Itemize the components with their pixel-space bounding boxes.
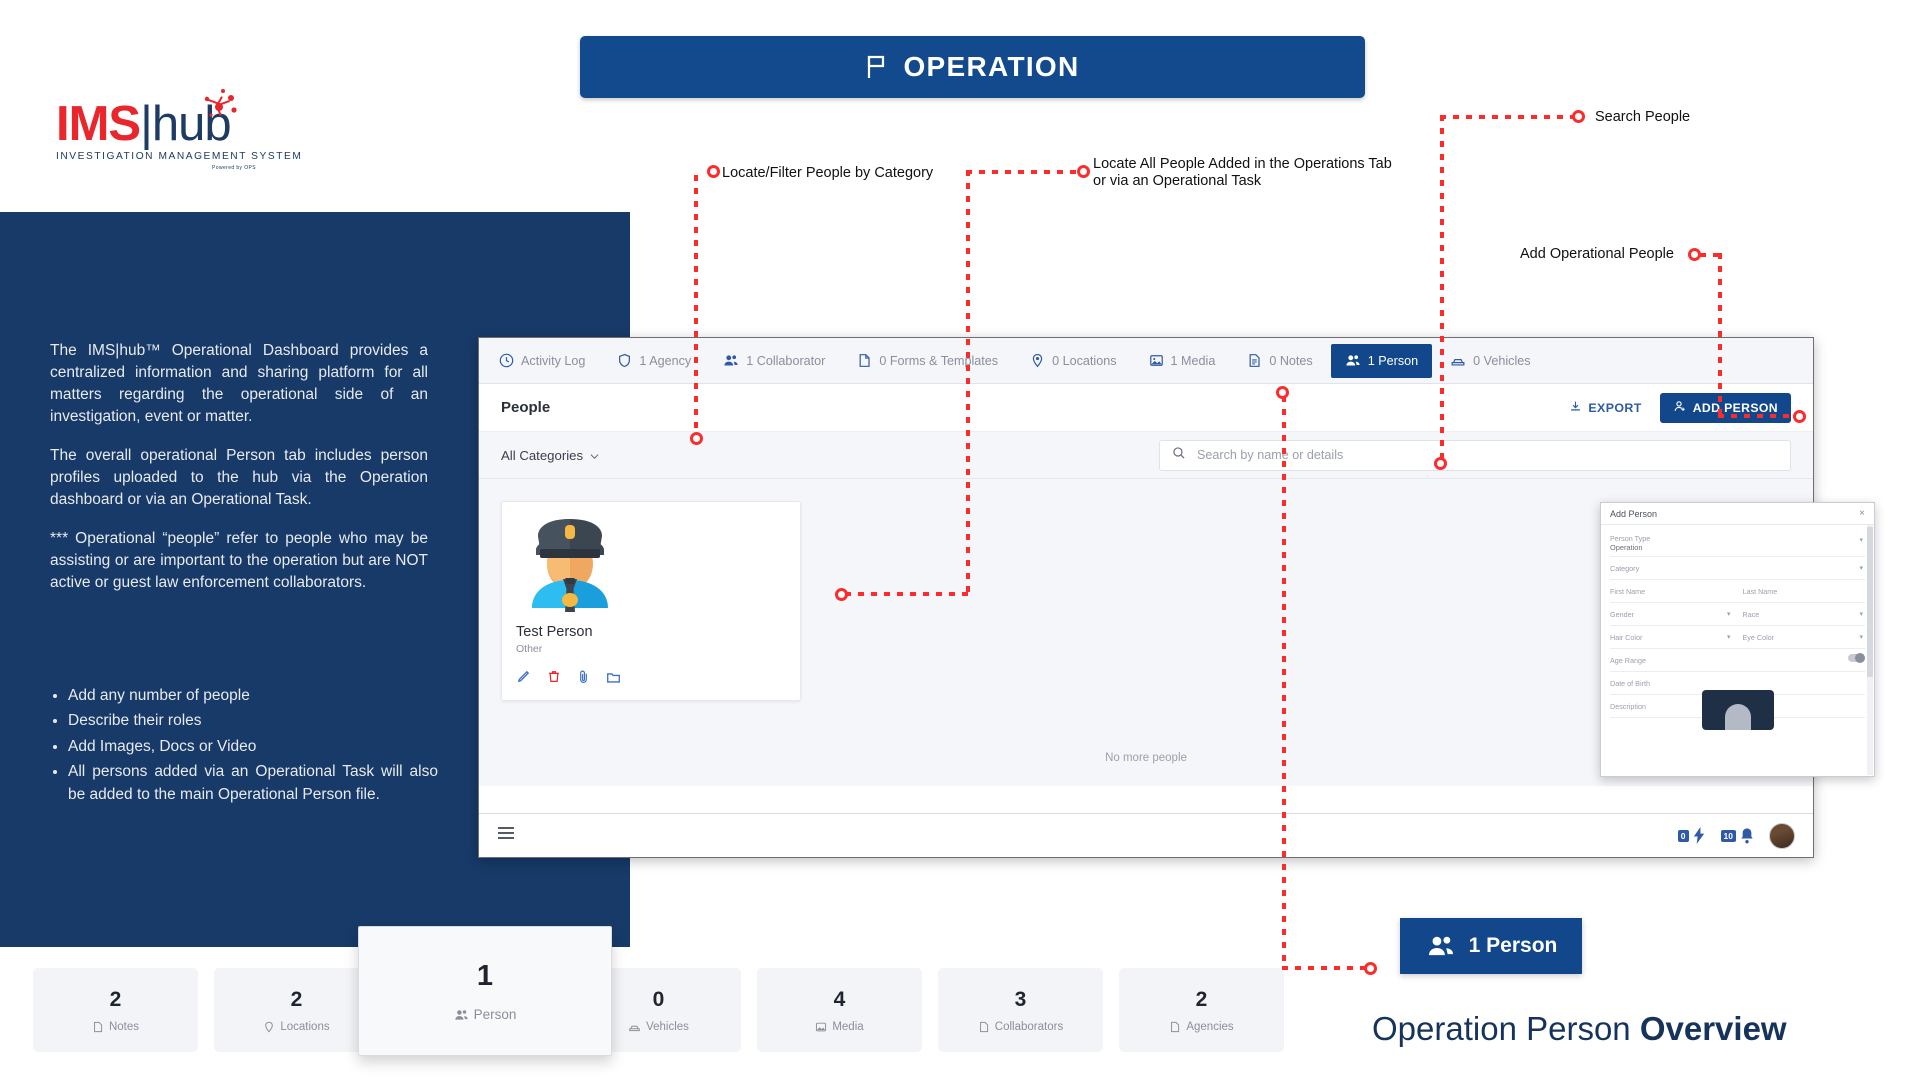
tab-label: 0 Locations [1052, 354, 1116, 368]
page-title: People [501, 399, 550, 416]
stat-label-text: Vehicles [646, 1021, 689, 1033]
spark-icon [196, 88, 240, 126]
tab-locations[interactable]: 0 Locations [1016, 344, 1130, 378]
activity-badge: 0 [1678, 830, 1689, 842]
callout-dot-search-target [1434, 457, 1447, 470]
hair-color-label: Hair Color [1610, 633, 1642, 642]
tab-label: Activity Log [521, 354, 585, 368]
add-person-button[interactable]: ADD PERSON [1660, 393, 1791, 423]
person-type-field[interactable]: Person Type Operation ▾ [1610, 529, 1865, 556]
notifications-indicator[interactable]: 10 [1721, 827, 1755, 844]
callout-dot-allpeople-target [835, 588, 848, 601]
note-icon [978, 1021, 990, 1033]
shield-icon [617, 353, 632, 368]
stat-label: Agencies [1169, 1021, 1233, 1033]
poster-canvas: IMS|hub INVESTIGATION MANAGEMENT SYSTEM … [0, 0, 1920, 1080]
person-card[interactable]: Test Person Other [501, 501, 801, 701]
field-row-age-range: Age Range [1610, 649, 1865, 672]
overview-caption-light: Operation Person [1372, 1010, 1640, 1047]
people-icon [1345, 353, 1361, 368]
callout-dot-category-target [690, 432, 703, 445]
stat-card-notes[interactable]: 2 Notes [33, 968, 198, 1052]
bolt-icon [1692, 827, 1707, 844]
field-row-name: First Name Last Name [1610, 580, 1865, 603]
tab-notes[interactable]: 0 Notes [1233, 344, 1326, 378]
tab-forms-templates[interactable]: 0 Forms & Templates [843, 344, 1012, 378]
gender-field[interactable]: Gender ▾ [1610, 603, 1733, 625]
edit-icon[interactable] [516, 669, 531, 684]
list-item: All persons added via an Operational Tas… [68, 761, 438, 806]
callout-line-category-v [694, 175, 698, 430]
pin-icon [1030, 353, 1045, 368]
overview-caption: Operation Person Overview [1372, 1010, 1787, 1048]
avatar[interactable] [1769, 823, 1795, 849]
callout-line-allpeople-v [966, 170, 970, 594]
stat-value: 4 [834, 988, 846, 1012]
flag-icon [865, 54, 889, 80]
car-icon [1450, 353, 1466, 368]
subheader-actions: EXPORT ADD PERSON [1569, 393, 1791, 423]
imshub-logo: IMS|hub INVESTIGATION MANAGEMENT SYSTEM … [56, 100, 256, 178]
logo-powered-by: Powered by OPS [56, 165, 256, 171]
stat-label: Media [815, 1021, 863, 1033]
pin-icon [263, 1021, 275, 1033]
chevron-down-icon: ▾ [1727, 633, 1731, 641]
search-box[interactable] [1159, 440, 1791, 471]
first-name-label: First Name [1610, 587, 1645, 596]
notification-badge: 10 [1721, 830, 1736, 842]
stat-label-text: Locations [280, 1021, 329, 1033]
tab-vehicles[interactable]: 0 Vehicles [1436, 344, 1544, 378]
people-icon [1425, 933, 1457, 959]
chevron-down-icon [590, 448, 599, 463]
person-count-chip: 1 Person [1400, 918, 1582, 974]
logo-ims-text: IMS [56, 97, 140, 151]
age-range-toggle[interactable] [1848, 654, 1865, 662]
person-chip-label: 1 Person [1469, 934, 1558, 958]
hamburger-icon[interactable] [497, 826, 515, 845]
race-label: Race [1743, 610, 1760, 619]
stat-label: Vehicles [628, 1021, 689, 1033]
stat-value: 2 [1196, 988, 1208, 1012]
app-footer: 0 10 [479, 813, 1813, 857]
stat-label-text: Agencies [1186, 1021, 1233, 1033]
stat-label: Collaborators [978, 1021, 1063, 1033]
stat-value: 1 [477, 960, 493, 993]
people-icon [723, 353, 739, 368]
tab-label: 1 Agency [639, 354, 691, 368]
hair-color-field[interactable]: Hair Color ▾ [1610, 626, 1733, 648]
age-range-field[interactable]: Age Range [1610, 649, 1865, 671]
eye-color-label: Eye Color [1743, 633, 1775, 642]
overview-caption-bold: Overview [1640, 1010, 1787, 1047]
stat-label-text: Person [474, 1007, 517, 1022]
logo-divider: | [140, 97, 152, 151]
tab-person[interactable]: 1 Person [1331, 344, 1432, 378]
activity-indicator[interactable]: 0 [1678, 827, 1707, 844]
logo-subtitle: INVESTIGATION MANAGEMENT SYSTEM [56, 151, 256, 162]
delete-icon[interactable] [547, 669, 561, 684]
callout-line-persontab-v [1282, 396, 1286, 970]
bell-icon [1739, 827, 1755, 844]
list-item: Add any number of people [68, 685, 438, 707]
callout-locate-all-people-added: Locate All People Added in the Operation… [1093, 156, 1392, 190]
chevron-down-icon: ▾ [1727, 610, 1731, 618]
add-person-dialog: Add Person × Person Type Operation ▾ Cat… [1600, 502, 1875, 777]
add-person-dialog-body: Person Type Operation ▾ Category ▾ First… [1601, 525, 1874, 718]
image-icon [1149, 353, 1164, 368]
chevron-down-icon: ▾ [1859, 633, 1863, 641]
callout-dot-category-label [707, 165, 720, 178]
callout-line-addop-v [1718, 253, 1722, 416]
tab-agency[interactable]: 1 Agency [603, 344, 705, 378]
person-add-icon [1673, 400, 1686, 416]
callout-dot-persontab [1276, 386, 1289, 399]
person-type-label: Person Type [1610, 534, 1865, 543]
tab-collaborator[interactable]: 1 Collaborator [709, 344, 839, 378]
image-icon [815, 1021, 827, 1033]
intro-paragraph-3: *** Operational “people” refer to people… [50, 528, 428, 594]
tab-label: 1 Collaborator [746, 354, 825, 368]
footer-right-icons: 0 10 [1678, 823, 1795, 849]
add-person-dialog-header: Add Person × [1601, 503, 1874, 525]
callout-line-allpeople-h1 [966, 170, 1080, 174]
folder-icon[interactable] [606, 670, 621, 684]
category-label: Category [1610, 564, 1639, 573]
callout-line-persontab-h [1282, 966, 1372, 970]
callout-search-people: Search People [1595, 109, 1690, 126]
operation-banner: OPERATION [580, 36, 1365, 98]
person-card-role: Other [516, 643, 786, 655]
callout-add-operational-people: Add Operational People [1520, 246, 1674, 263]
add-person-dialog-title: Add Person [1610, 509, 1657, 519]
field-row-hair-eye: Hair Color ▾ Eye Color ▾ [1610, 626, 1865, 649]
date-of-birth-label: Date of Birth [1610, 679, 1650, 688]
attach-icon[interactable] [577, 669, 590, 684]
export-label: EXPORT [1588, 401, 1641, 415]
stat-value: 2 [291, 988, 303, 1012]
callout-locate-filter-people-by-category: Locate/Filter People by Category [722, 165, 933, 182]
form-icon [857, 353, 872, 368]
chevron-down-icon: ▾ [1859, 610, 1863, 618]
note-icon [92, 1021, 104, 1033]
list-item: Add Images, Docs or Video [68, 736, 438, 758]
tab-label: 0 Notes [1269, 354, 1312, 368]
callout-line-search-h [1440, 115, 1576, 119]
stat-value: 2 [110, 988, 122, 1012]
person-avatar-illustration [516, 512, 624, 617]
people-subheader: People EXPORT ADD PERSON [479, 384, 1813, 432]
stat-label-text: Collaborators [995, 1021, 1063, 1033]
callout-dot-addop-target [1793, 410, 1806, 423]
close-icon[interactable]: × [1859, 508, 1865, 519]
callout-dot-addop-label [1688, 248, 1701, 261]
search-icon [1172, 446, 1186, 465]
stat-card-row: 2 Notes 2 Locations 0 Vehicles 4 [33, 968, 1284, 1052]
tab-label: 0 Vehicles [1473, 354, 1530, 368]
stat-card-agencies[interactable]: 2 Agencies [1119, 968, 1284, 1052]
age-range-label: Age Range [1610, 656, 1646, 665]
intro-bullet-list: Add any number of people Describe their … [68, 685, 438, 809]
app-tab-bar: Activity Log 1 Agency 1 Collaborator 0 F… [479, 338, 1813, 384]
stat-value: 0 [653, 988, 665, 1012]
field-row-gender-race: Gender ▾ Race ▾ [1610, 603, 1865, 626]
stat-label: Notes [92, 1021, 139, 1033]
dialog-scrollbar[interactable] [1867, 525, 1873, 775]
tab-media[interactable]: 1 Media [1135, 344, 1230, 378]
intro-paragraph-2: The overall operational Person tab inclu… [50, 445, 428, 511]
stat-value: 3 [1015, 988, 1027, 1012]
eye-color-field[interactable]: Eye Color ▾ [1743, 626, 1866, 648]
stat-card-person-featured[interactable]: 1 Person [358, 926, 612, 1056]
description-label: Description [1610, 702, 1646, 711]
category-filter-dropdown[interactable]: All Categories [501, 448, 599, 463]
chevron-down-icon: ▾ [1859, 536, 1863, 544]
callout-dot-personchip-target [1364, 962, 1377, 975]
photo-placeholder[interactable] [1702, 690, 1774, 730]
callout-dot-search-label [1572, 110, 1585, 123]
stat-label: Person [454, 1007, 517, 1022]
intro-paragraph-1: The IMS|hub™ Operational Dashboard provi… [50, 340, 428, 428]
intro-paragraphs: The IMS|hub™ Operational Dashboard provi… [50, 340, 428, 611]
last-name-field[interactable]: Last Name [1743, 580, 1866, 602]
callout-line-allpeople-h2 [845, 592, 969, 596]
stat-label-text: Media [832, 1021, 863, 1033]
export-button[interactable]: EXPORT [1569, 400, 1641, 416]
stat-card-collaborators[interactable]: 3 Collaborators [938, 968, 1103, 1052]
chevron-down-icon: ▾ [1859, 564, 1863, 572]
category-filter-label: All Categories [501, 448, 583, 463]
car-icon [628, 1021, 641, 1033]
callout-line-search-v [1440, 115, 1444, 462]
operation-banner-title: OPERATION [903, 51, 1079, 83]
stat-label-text: Notes [109, 1021, 139, 1033]
callout-dot-allpeople-label [1077, 165, 1090, 178]
tab-activity-log[interactable]: Activity Log [485, 344, 599, 378]
tab-label: 0 Forms & Templates [879, 354, 998, 368]
field-row-person-type: Person Type Operation ▾ [1610, 529, 1865, 557]
add-person-label: ADD PERSON [1693, 401, 1778, 415]
tab-label: 1 Media [1171, 354, 1216, 368]
stat-card-media[interactable]: 4 Media [757, 968, 922, 1052]
person-card-name: Test Person [516, 624, 786, 640]
field-row-category: Category ▾ [1610, 557, 1865, 580]
person-card-actions [516, 669, 786, 684]
first-name-field[interactable]: First Name [1610, 580, 1733, 602]
filter-bar: All Categories [479, 432, 1813, 479]
gender-label: Gender [1610, 610, 1634, 619]
clock-icon [499, 353, 514, 368]
race-field[interactable]: Race ▾ [1743, 603, 1866, 625]
category-field[interactable]: Category ▾ [1610, 557, 1865, 579]
note-icon [1169, 1021, 1181, 1033]
note-icon [1247, 353, 1262, 368]
stat-label: Locations [263, 1021, 329, 1033]
tab-label: 1 Person [1368, 354, 1418, 368]
export-icon [1569, 400, 1582, 416]
stat-card-locations[interactable]: 2 Locations [214, 968, 379, 1052]
list-item: Describe their roles [68, 710, 438, 732]
people-icon [454, 1008, 469, 1022]
last-name-label: Last Name [1743, 587, 1778, 596]
person-type-value: Operation [1610, 543, 1865, 552]
callout-line-addop-h2 [1718, 414, 1800, 418]
